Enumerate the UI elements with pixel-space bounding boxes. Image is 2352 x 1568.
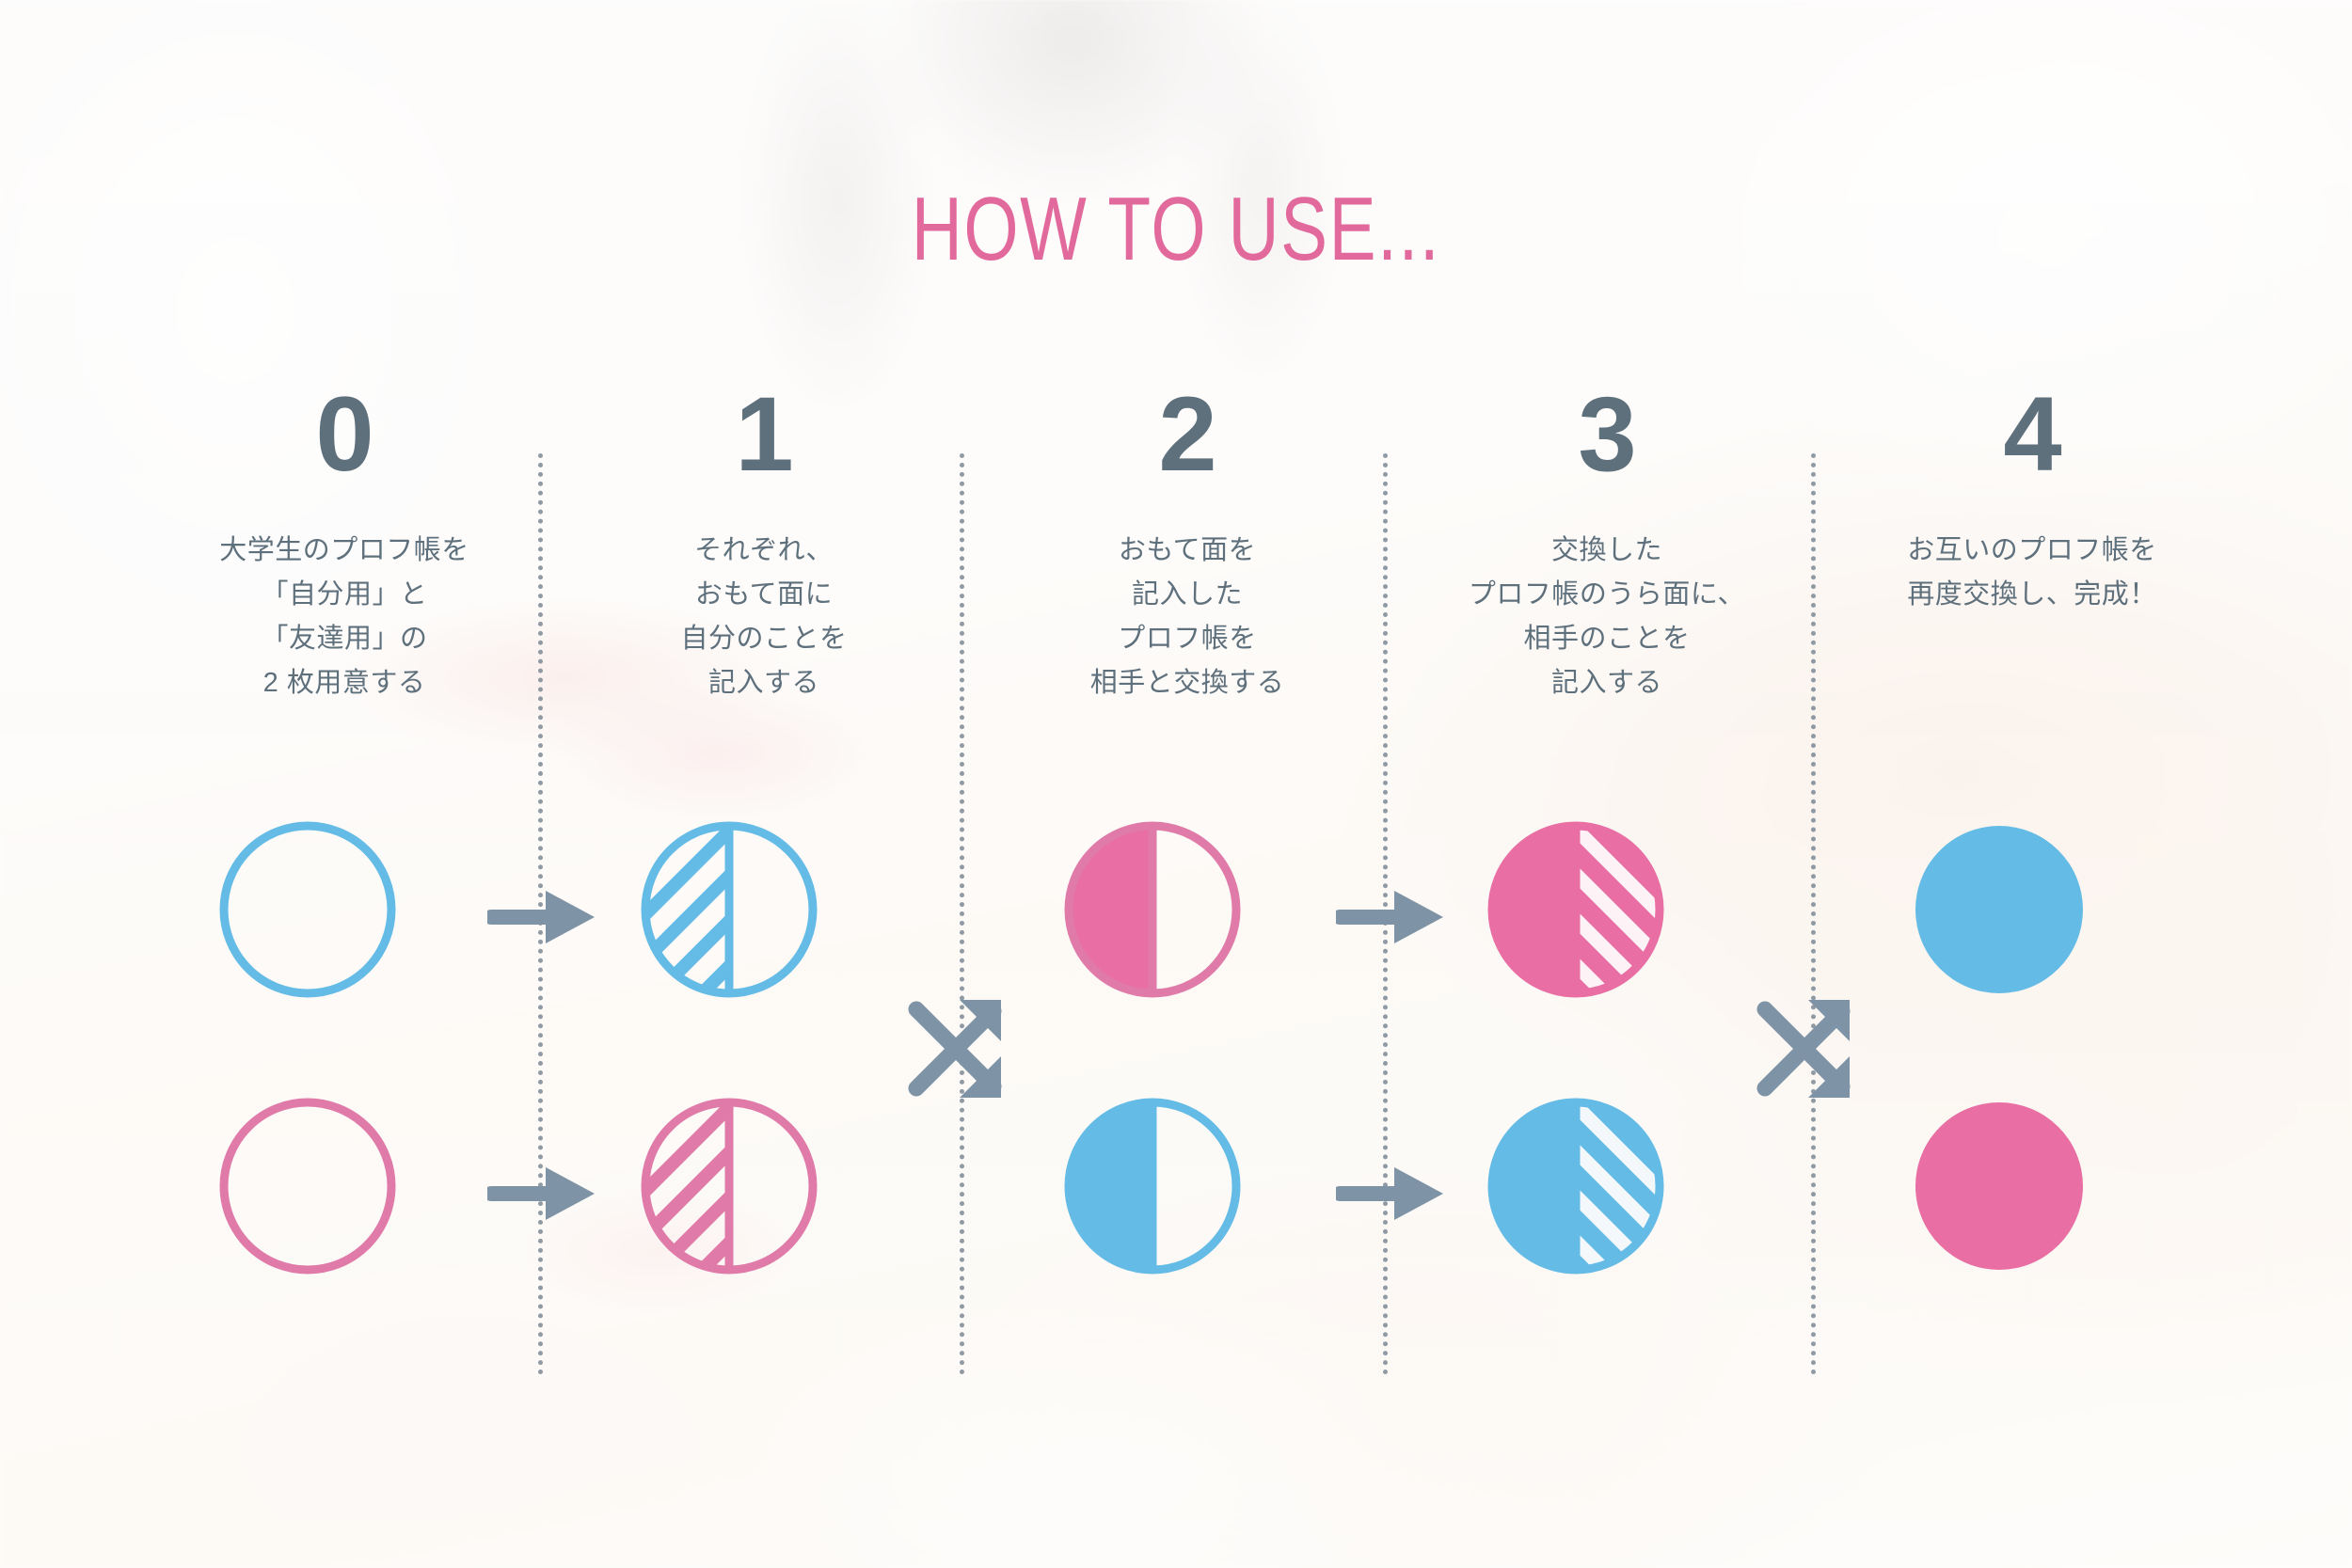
step-column-0: 0 大学生のプロフ帳を 「自分用」と 「友達用」の 2 枚用意する [156, 382, 532, 705]
circle-outline-pink [218, 1097, 397, 1275]
column-divider-3 [1811, 453, 1816, 1375]
circle-outline-blue [218, 820, 397, 999]
swap-step1-to-step2 [903, 992, 1016, 1105]
step-description: 大学生のプロフ帳を 「自分用」と 「友達用」の 2 枚用意する [156, 529, 532, 705]
step-number: 1 [576, 382, 952, 487]
circle-hatch-left-pink [640, 1097, 818, 1275]
step-number: 4 [1844, 382, 2220, 487]
step-description: お互いのプロフ帳を 再度交換し、完成！ [1844, 529, 2220, 617]
step-description: それぞれ、 おもて面に 自分のことを 記入する [576, 529, 952, 705]
page-title: HOW TO USE... [259, 184, 2093, 275]
arrow-right-icon [487, 884, 600, 950]
step-column-2: 2 おもて面を 記入した プロフ帳を 相手と交換する [999, 382, 1375, 705]
shape-step2-bottom [1063, 1097, 1242, 1275]
arrow-step2-to-step3-top [1336, 884, 1449, 950]
swap-step3-to-step4 [1752, 992, 1865, 1105]
arrow-step0-to-step1-top [487, 884, 600, 950]
shape-step4-top [1910, 820, 2089, 999]
swap-arrows-icon [903, 992, 1016, 1105]
step-number: 0 [156, 382, 532, 487]
step-column-3: 3 交換した プロフ帳のうら面に、 相手のことを 記入する [1419, 382, 1795, 705]
circle-solid-left-hatch-right-pink [1486, 820, 1665, 999]
circle-hatch-left-blue [640, 820, 818, 999]
shape-step1-bottom [640, 1097, 818, 1275]
arrow-right-icon [487, 1161, 600, 1227]
shape-step2-top [1063, 820, 1242, 999]
step-column-1: 1 それぞれ、 おもて面に 自分のことを 記入する [576, 382, 952, 705]
swap-arrows-icon [1752, 992, 1865, 1105]
step-column-4: 4 お互いのプロフ帳を 再度交換し、完成！ [1844, 382, 2220, 617]
step-description: おもて面を 記入した プロフ帳を 相手と交換する [999, 529, 1375, 705]
column-divider-1 [960, 453, 964, 1375]
shape-step3-top [1486, 820, 1665, 999]
circle-solid-left-blue [1063, 1097, 1242, 1275]
circle-solid-pink [1910, 1097, 2089, 1275]
step-description: 交換した プロフ帳のうら面に、 相手のことを 記入する [1419, 529, 1795, 705]
shape-step3-bottom [1486, 1097, 1665, 1275]
arrow-step2-to-step3-bottom [1336, 1161, 1449, 1227]
arrow-right-icon [1336, 884, 1449, 950]
infographic-canvas: HOW TO USE... 0 大学生のプロフ帳を 「自分用」と 「友達用」の … [0, 0, 2352, 1568]
circle-solid-left-hatch-right-blue [1486, 1097, 1665, 1275]
circle-solid-left-pink [1063, 820, 1242, 999]
arrow-right-icon [1336, 1161, 1449, 1227]
step-number: 2 [999, 382, 1375, 487]
shape-step0-top [218, 820, 397, 999]
step-number: 3 [1419, 382, 1795, 487]
shape-step4-bottom [1910, 1097, 2089, 1275]
arrow-step0-to-step1-bottom [487, 1161, 600, 1227]
circle-solid-blue [1910, 820, 2089, 999]
shape-step0-bottom [218, 1097, 397, 1275]
shape-step1-top [640, 820, 818, 999]
